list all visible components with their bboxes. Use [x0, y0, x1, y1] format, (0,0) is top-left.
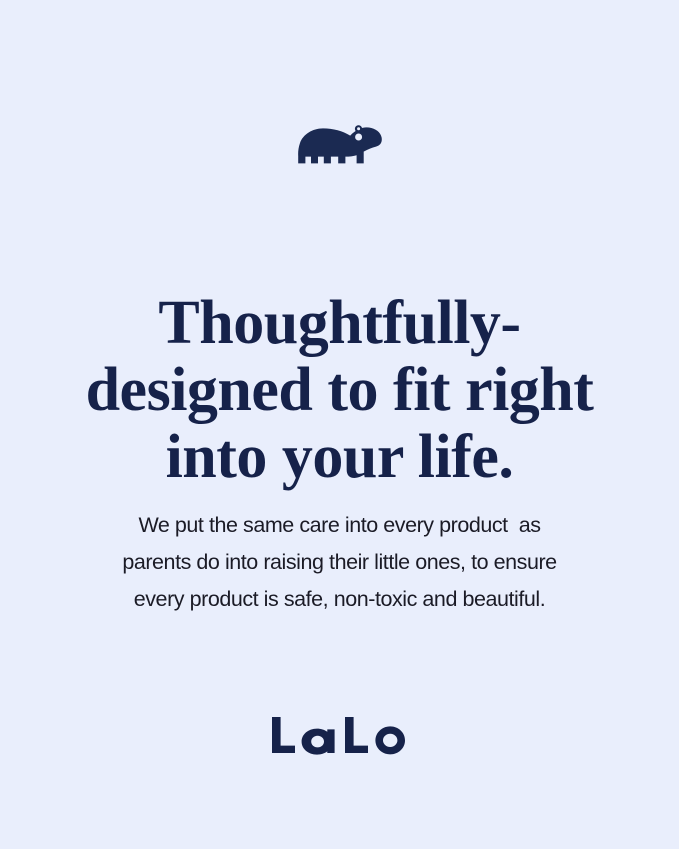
body-copy-line-1: We put the same care into every product …	[0, 507, 679, 544]
poster-canvas: Thoughtfully- designed to fit right into…	[0, 0, 679, 849]
headline-line-3: into your life.	[0, 424, 679, 491]
lalo-wordmark	[270, 712, 410, 758]
headline: Thoughtfully- designed to fit right into…	[0, 290, 679, 491]
hippo-icon	[298, 122, 382, 168]
headline-line-1: Thoughtfully-	[0, 290, 679, 357]
body-copy: We put the same care into every product …	[0, 507, 679, 618]
headline-line-2: designed to fit right	[0, 357, 679, 424]
body-copy-line-2: parents do into raising their little one…	[0, 544, 679, 581]
body-copy-line-3: every product is safe, non-toxic and bea…	[0, 581, 679, 618]
